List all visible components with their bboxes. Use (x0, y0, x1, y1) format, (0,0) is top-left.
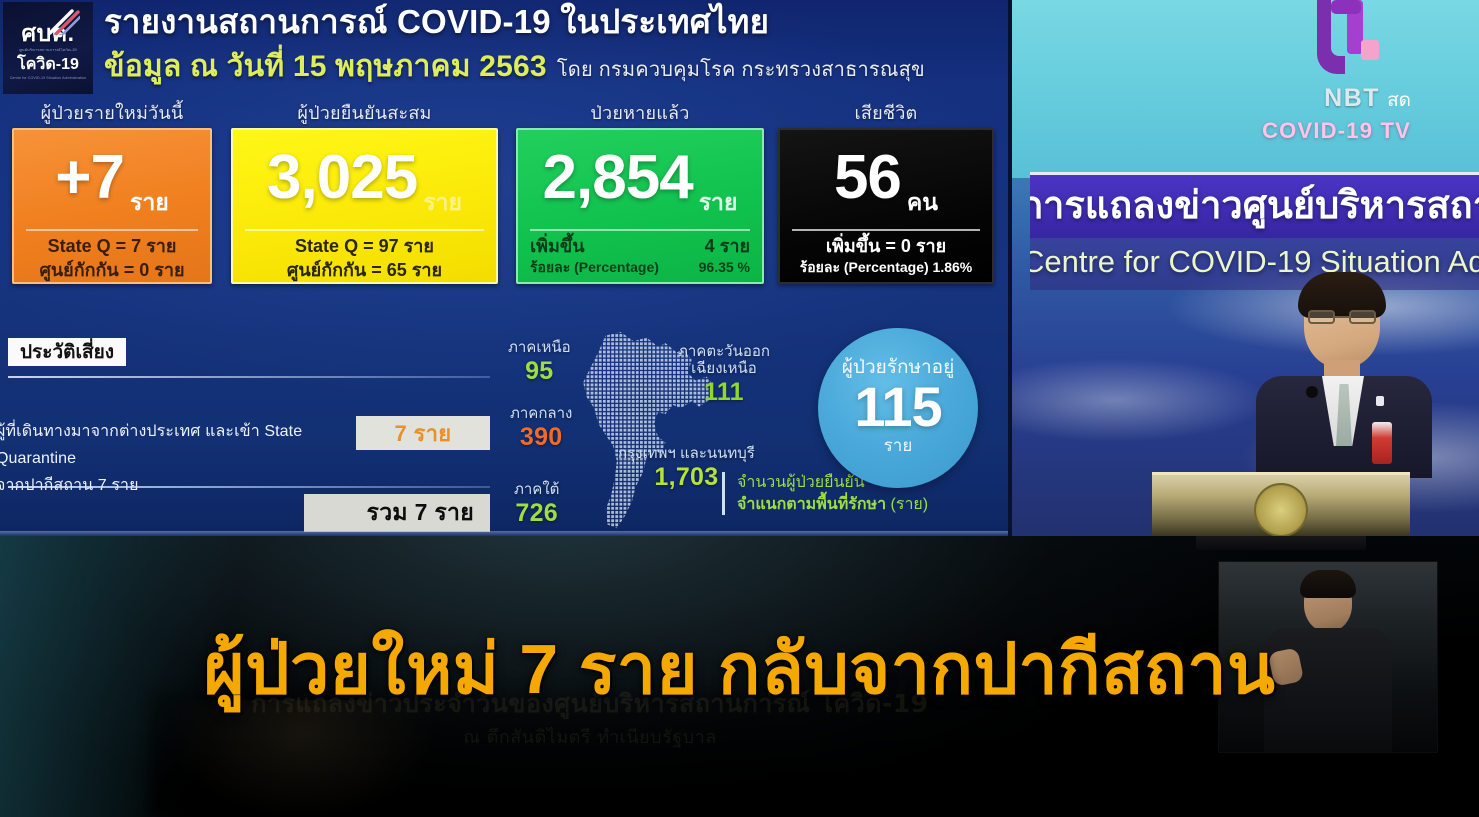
map-region-south-name: ภาคใต้ (514, 482, 559, 499)
stat-card-deaths: เสียชีวิต 56 คน เพิ่มขึ้น = 0 ราย ร้อยละ… (778, 96, 994, 284)
speaker-id-badge (1372, 422, 1392, 464)
stat-label-deaths: เสียชีวิต (778, 96, 994, 128)
sbc-subtitle: โควิด-19 (17, 57, 79, 73)
stat-value-row: 2,854 ราย (518, 130, 762, 226)
thailand-map-block: ภาคเหนือ 95 ภาคตะวันออก เฉียงเหนือ 111 ภ… (500, 330, 1008, 536)
lower-third-caption-text: ผู้ป่วยใหม่ 7 ราย กลับจากปากีสถาน (204, 634, 1276, 704)
map-legend-line-2-text: จำแนกตามพื้นที่รักษา (737, 496, 886, 513)
nbt-logo-icon (1303, 0, 1393, 88)
stat-card-row: ผู้ป่วยรายใหม่วันนี้ +7 ราย State Q = 7 … (0, 96, 1008, 308)
map-region-north-name: ภาคเหนือ (508, 340, 571, 357)
infographic-header: ศบค. ศูนย์บริหารสถานการณ์โควิด-19 โควิด-… (0, 0, 1008, 96)
stat-card-body-recovered: 2,854 ราย เพิ่มขึ้น 4 ราย ร้อยละ (Percen… (516, 128, 764, 284)
infographic-subheader: ข้อมูล ณ วันที่ 15 พฤษภาคม 2563โดย กรมคว… (104, 50, 925, 83)
speaker-figure (1248, 272, 1448, 472)
active-cases-value: 115 (854, 379, 941, 435)
stat-value-new-cases: +7 (55, 147, 124, 209)
map-region-central-name: ภาคกลาง (510, 406, 572, 423)
map-region-northeast: ภาคตะวันออก เฉียงเหนือ 111 (678, 344, 770, 406)
stat-sub-deaths: เพิ่มขึ้น = 0 ราย ร้อยละ (Percentage) 1.… (780, 234, 992, 277)
sbc-acronym-sub: ศูนย์บริหารสถานการณ์โควิด-19 (19, 49, 76, 53)
stat-sub-cumulative: State Q = 97 ราย ศูนย์กักกัน = 65 ราย (233, 234, 496, 283)
podium-base (1196, 536, 1366, 550)
live-video-feed: NBT สด COVID-19 TV การแถลงข่าวศูนย์บริหา… (1012, 0, 1479, 536)
map-legend-line-2: จำแนกตามพื้นที่รักษา (ราย) (737, 494, 952, 516)
map-region-south-value: 726 (514, 499, 559, 527)
stat-unit-new-cases: ราย (130, 191, 169, 226)
broadcast-screen: การแถลงข่าวประจำวันของศูนย์บริหารสถานการ… (0, 0, 1479, 817)
stat-card-new-cases: ผู้ป่วยรายใหม่วันนี้ +7 ราย State Q = 7 … (12, 96, 212, 284)
glasses-bridge (1335, 316, 1349, 318)
stat-sub-recovered: เพิ่มขึ้น 4 ราย ร้อยละ (Percentage) 96.3… (518, 234, 762, 277)
stat-value-row: +7 ราย (14, 130, 210, 226)
risk-history-tag: ประวัติเสี่ยง (8, 338, 126, 366)
speaker-lapel-pin (1376, 396, 1384, 406)
map-region-bangkok-name: กรุงเทพฯ และนนทบุรี (618, 446, 755, 463)
map-region-northeast-name-1: ภาคตะวันออก (678, 344, 770, 361)
risk-history-row: ผู้ที่เดินทางมาจากต่างประเทศ และเข้า Sta… (0, 390, 500, 482)
covid-infographic-panel: ศบค. ศูนย์บริหารสถานการณ์โควิด-19 โควิด-… (0, 0, 1008, 536)
stat-sub-line-2: ศูนย์กักกัน = 0 ราย (26, 258, 198, 282)
stat-value-recovered: 2,854 (543, 147, 693, 209)
stat-sub-line-1: เพิ่มขึ้น = 0 ราย (792, 234, 980, 258)
video-banner-thai-text: การแถลงข่าวศูนย์บริหารสถานการณ์ โควิด-19 (1030, 177, 1479, 236)
stat-card-body-new-cases: +7 ราย State Q = 7 ราย ศูนย์กักกัน = 0 ร… (12, 128, 212, 284)
stat-unit-deaths: คน (907, 191, 938, 226)
glasses-lens-left (1308, 310, 1335, 324)
risk-row-value-pill: 7 ราย (356, 416, 490, 450)
stat-label-recovered: ป่วยหายแล้ว (516, 96, 764, 128)
map-legend-unit: (ราย) (891, 496, 929, 513)
risk-row-text-line-1: ผู้ที่เดินทางมาจากต่างประเทศ และเข้า Sta… (0, 418, 348, 472)
thai-government-seal-icon (1254, 483, 1308, 537)
report-date: ข้อมูล ณ วันที่ 15 พฤษภาคม 2563 (104, 50, 547, 83)
sbc-logo: ศบค. ศูนย์บริหารสถานการณ์โควิด-19 โควิด-… (3, 2, 93, 94)
stat-sub-line-1: State Q = 7 ราย (26, 234, 198, 258)
stat-sub-line-2: ร้อยละ (Percentage) 96.35 % (530, 258, 750, 277)
stat-sub-2-right: 96.35 % (699, 258, 750, 277)
stat-unit-recovered: ราย (699, 191, 738, 226)
report-source: โดย กรมควบคุมโรค กระทรวงสาธารณสุข (557, 59, 925, 81)
nbt-channel-row: NBT สด (1324, 86, 1411, 111)
stat-value-deaths: 56 (834, 147, 901, 209)
stat-card-body-cumulative: 3,025 ราย State Q = 97 ราย ศูนย์กักกัน =… (231, 128, 498, 284)
glasses-lens-right (1349, 310, 1376, 324)
speaker-glasses-icon (1308, 310, 1376, 324)
risk-total-pill: รวม 7 ราย (304, 494, 490, 532)
risk-row-value: 7 ราย (395, 416, 452, 451)
stat-sub-1-right: 4 ราย (705, 234, 750, 258)
stat-label-cumulative: ผู้ป่วยยืนยันสะสม (231, 96, 498, 128)
stat-sub-line-2: ร้อยละ (Percentage) 1.86% (792, 258, 980, 277)
stat-divider (245, 229, 484, 231)
map-region-northeast-name-2: เฉียงเหนือ (678, 361, 770, 378)
interpreter-hair (1300, 570, 1356, 598)
stat-sub-new-cases: State Q = 7 ราย ศูนย์กักกัน = 0 ราย (14, 234, 210, 283)
lower-third-caption: ผู้ป่วยใหม่ 7 ราย กลับจากปากีสถาน (0, 614, 1479, 724)
map-region-south: ภาคใต้ 726 (514, 482, 559, 527)
stat-divider (792, 229, 980, 231)
risk-history-block: ประวัติเสี่ยง ผู้ที่เดินทางมาจากต่างประเ… (0, 338, 500, 528)
stat-sub-2-left: ร้อยละ (Percentage) (530, 258, 659, 277)
stat-divider (530, 229, 750, 231)
stat-sub-line-1: เพิ่มขึ้น 4 ราย (530, 234, 750, 258)
sbc-subtitle-sub: Centre for COVID-19 Situation Administra… (10, 76, 87, 80)
active-cases-unit: ราย (884, 437, 913, 454)
stat-unit-cumulative: ราย (423, 191, 462, 226)
stat-label-new-cases: ผู้ป่วยรายใหม่วันนี้ (12, 96, 212, 128)
stat-sub-line-1: State Q = 97 ราย (245, 234, 484, 258)
map-region-north-value: 95 (508, 357, 571, 385)
stat-divider (26, 229, 198, 231)
microphone-icon (1306, 386, 1318, 398)
risk-total-value: รวม 7 ราย (367, 495, 474, 531)
nbt-channel-name: NBT (1324, 86, 1380, 111)
stat-sub-line-2: ศูนย์กักกัน = 65 ราย (245, 258, 484, 282)
video-banner-thai: การแถลงข่าวศูนย์บริหารสถานการณ์ โควิด-19 (1030, 172, 1479, 238)
stat-sub-1-left: เพิ่มขึ้น (530, 234, 585, 258)
stat-value-row: 56 คน (780, 130, 992, 226)
infographic-title: รายงานสถานการณ์ COVID-19 ในประเทศไทย (104, 3, 769, 41)
stat-card-recovered: ป่วยหายแล้ว 2,854 ราย เพิ่มขึ้น 4 ราย ร้… (516, 96, 764, 284)
nbt-channel-subtitle: COVID-19 TV (1262, 120, 1411, 142)
map-region-central-value: 390 (510, 423, 572, 451)
stat-value-cumulative: 3,025 (267, 147, 417, 209)
active-cases-bubble: ผู้ป่วยรักษาอยู่ 115 ราย (818, 328, 978, 488)
map-region-northeast-value: 111 (678, 378, 770, 406)
podium (1152, 472, 1410, 536)
risk-divider-bottom (8, 486, 490, 488)
stat-card-cumulative: ผู้ป่วยยืนยันสะสม 3,025 ราย State Q = 97… (231, 96, 498, 284)
risk-divider-top (8, 376, 490, 378)
nbt-live-tag: สด (1387, 91, 1411, 110)
sbc-swoosh-icon (46, 9, 80, 35)
ghost-text-line-2: ณ ตึกสันติไมตรี ทำเนียบรัฐบาล (0, 722, 1180, 751)
stat-value-row: 3,025 ราย (233, 130, 496, 226)
stat-card-body-deaths: 56 คน เพิ่มขึ้น = 0 ราย ร้อยละ (Percenta… (778, 128, 994, 284)
map-region-central: ภาคกลาง 390 (510, 406, 572, 451)
map-region-north: ภาคเหนือ 95 (508, 340, 571, 385)
